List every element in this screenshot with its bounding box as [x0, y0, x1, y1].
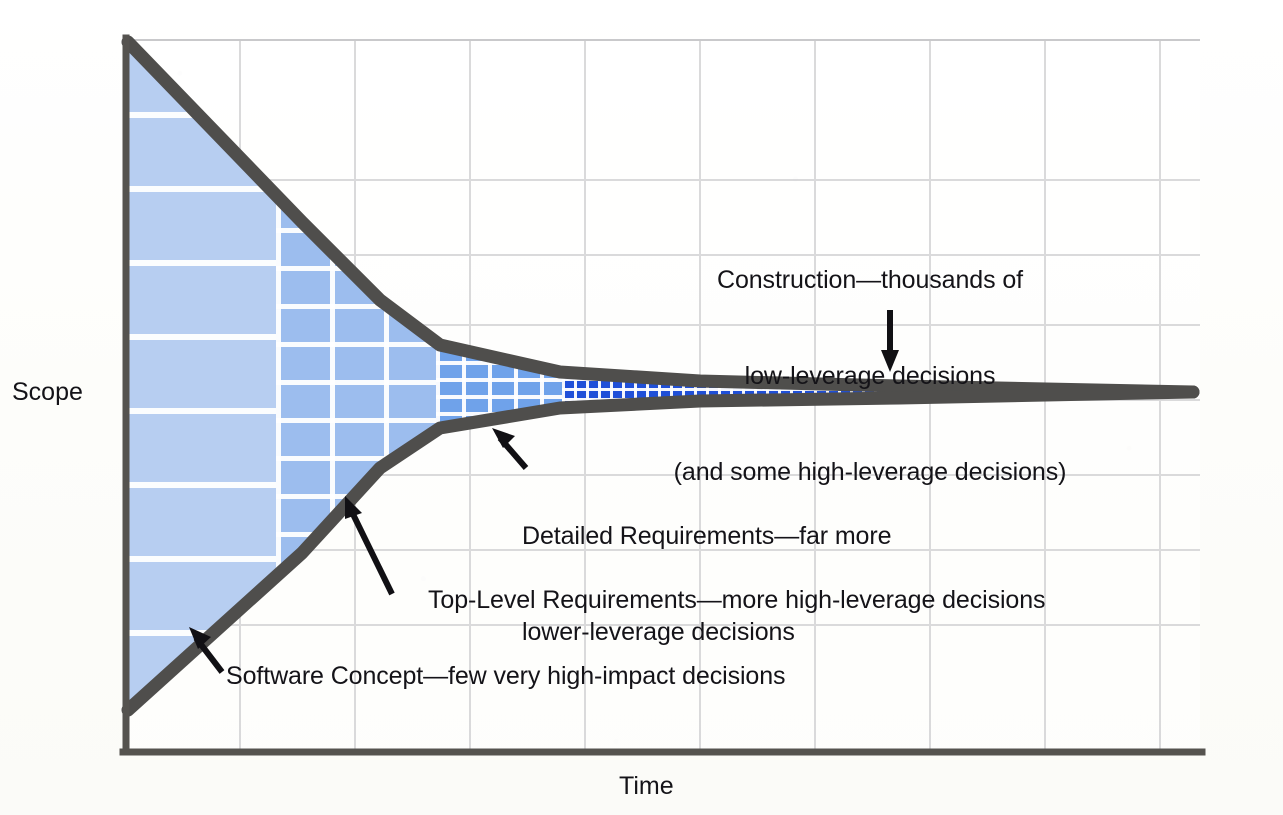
- x-axis-label: Time: [619, 772, 674, 801]
- y-axis-label: Scope: [12, 378, 83, 407]
- annotation-construction-line-1: Construction—thousands of: [655, 264, 1085, 296]
- annotation-top-level-requirements-line-1: Top-Level Requirements—more high-leverag…: [428, 584, 1045, 616]
- annotation-detailed-requirements-line-1: Detailed Requirements—far more: [522, 520, 1042, 552]
- annotation-construction-line-2: low-leverage decisions: [655, 360, 1085, 392]
- annotation-software-concept: Software Concept—few very high-impact de…: [226, 660, 785, 692]
- annotation-software-concept-line-1: Software Concept—few very high-impact de…: [226, 660, 785, 692]
- annotation-top-level-requirements: Top-Level Requirements—more high-leverag…: [428, 584, 1045, 616]
- annotation-detailed-requirements-line-2: lower-leverage decisions: [522, 616, 1042, 648]
- figure-canvas: Scope Time Construction—thousands of low…: [0, 0, 1283, 815]
